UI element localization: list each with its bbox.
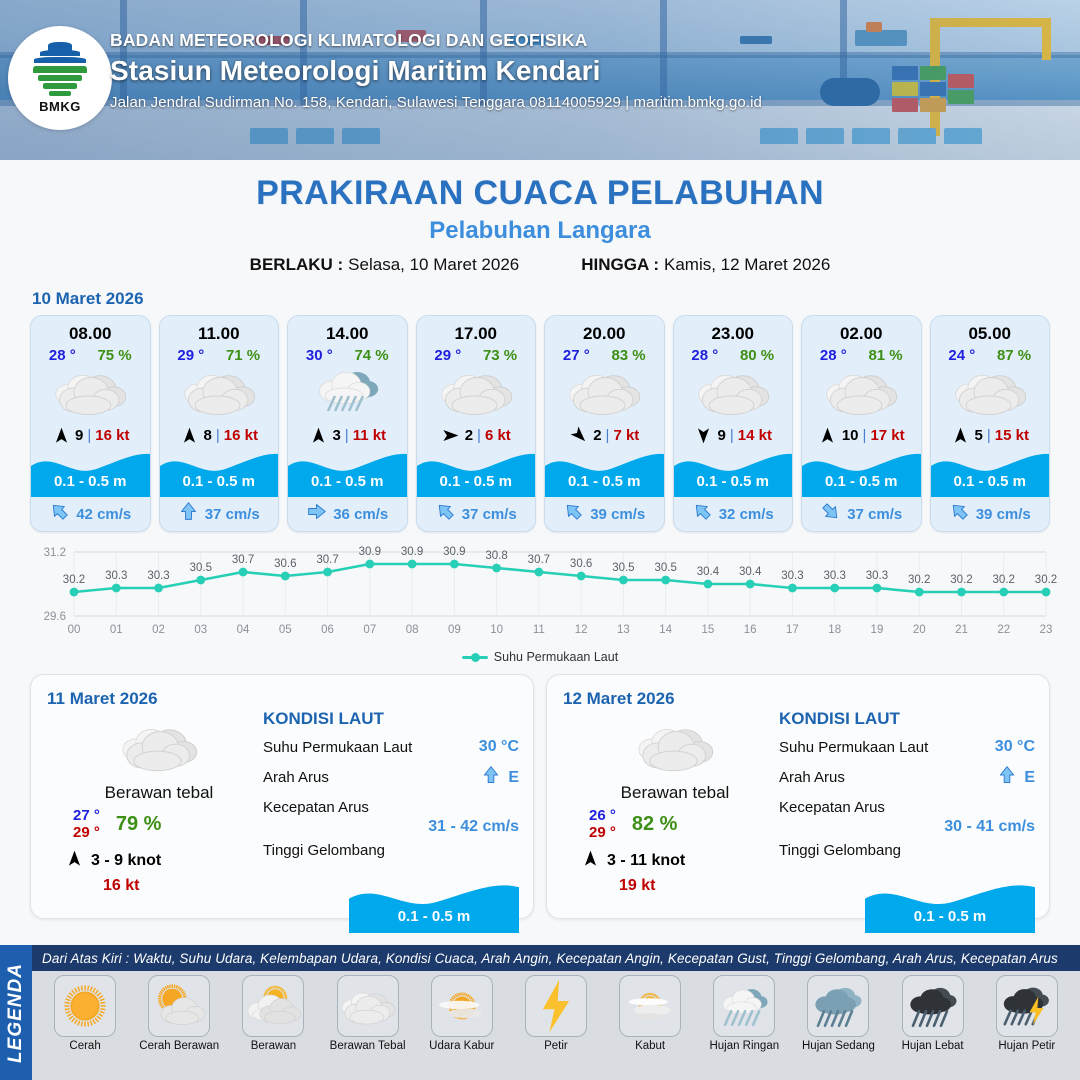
svg-text:30.3: 30.3 (105, 570, 127, 582)
day-humidity: 82 % (632, 813, 678, 836)
svg-text:03: 03 (194, 624, 207, 636)
card-separator: | (477, 427, 481, 444)
current-direction-value: E (1024, 769, 1035, 787)
day-wind-speed: 3 - 9 knot (91, 852, 161, 870)
day-sea-conditions: KONDISI LAUT Suhu Permukaan Laut 30 °C A… (779, 709, 1035, 859)
wind-direction-arrow-icon (951, 425, 971, 445)
hourly-card[interactable]: 23.00 28 ° 80 % 9 | 14 kt 0.1 - 0.5 m (673, 315, 794, 532)
validity-row: BERLAKU :Selasa, 10 Maret 2026 HINGGA :K… (0, 255, 1080, 275)
sst-label: Suhu Permukaan Laut (263, 739, 412, 756)
card-current-speed: 39 cm/s (976, 506, 1031, 523)
wave-height-value: 0.1 - 0.5 m (349, 908, 519, 925)
bmkg-logo: BMKG (8, 26, 112, 130)
card-temp-hum: 29 ° 73 % (417, 344, 536, 364)
day-temp-hum: 26 ° 29 ° 82 % (575, 807, 775, 841)
svg-text:21: 21 (955, 624, 968, 636)
day-left-column: Berawan tebal 26 ° 29 ° 82 % 3 - 11 knot… (575, 717, 775, 895)
card-temp-hum: 28 ° 80 % (674, 344, 793, 364)
card-weather-icon (674, 364, 793, 420)
legend-item: Kabut (607, 975, 693, 1052)
sea-section-title: KONDISI LAUT (263, 709, 519, 729)
cerah-icon (57, 980, 113, 1032)
card-humidity: 73 % (483, 347, 517, 364)
current-direction-row: Arah Arus E (779, 765, 1035, 790)
day-condition: Berawan tebal (575, 783, 775, 803)
card-wave-height: 0.1 - 0.5 m (545, 473, 664, 490)
hourly-card[interactable]: 20.00 27 ° 83 % 2 | 7 kt 0.1 - 0.5 m (544, 315, 665, 532)
legend-note: Dari Atas Kiri : Waktu, Suhu Udara, Kele… (32, 945, 1080, 971)
svg-text:30.3: 30.3 (147, 570, 169, 582)
legend-item-label: Udara Kabur (419, 1040, 505, 1052)
svg-text:23: 23 (1040, 624, 1053, 636)
legend-icon-tile (713, 975, 775, 1037)
svg-text:30.6: 30.6 (570, 558, 592, 570)
card-humidity: 75 % (97, 347, 131, 364)
current-speed-label: Kecepatan Arus (779, 799, 1035, 816)
current-direction-arrow-icon (178, 501, 199, 527)
svg-text:30.4: 30.4 (739, 566, 762, 578)
current-speed-label: Kecepatan Arus (263, 799, 519, 816)
card-humidity: 74 % (354, 347, 388, 364)
card-wind-row: 8 | 16 kt (160, 420, 279, 450)
card-separator: | (345, 427, 349, 444)
legend-bar: LEGENDA Dari Atas Kiri : Waktu, Suhu Uda… (0, 945, 1080, 1080)
svg-text:30.9: 30.9 (401, 546, 423, 558)
card-time: 02.00 (802, 316, 921, 344)
legend-main: Dari Atas Kiri : Waktu, Suhu Udara, Kele… (32, 945, 1080, 1080)
legend-icon-tile (242, 975, 304, 1037)
card-separator: | (216, 427, 220, 444)
sea-section-title: KONDISI LAUT (779, 709, 1035, 729)
card-wave-band: 0.1 - 0.5 m (31, 450, 150, 497)
valid-until-value: Kamis, 12 Maret 2026 (664, 255, 830, 274)
card-current-speed: 37 cm/s (847, 506, 902, 523)
legend-item-label: Kabut (607, 1040, 693, 1052)
legend-icon-tile (902, 975, 964, 1037)
day-wind-row: 3 - 11 knot (575, 849, 775, 873)
card-weather-icon (160, 364, 279, 420)
svg-text:30.3: 30.3 (781, 570, 803, 582)
svg-text:07: 07 (363, 624, 376, 636)
card-temperature: 27 ° (563, 347, 590, 364)
svg-text:30.7: 30.7 (232, 554, 254, 566)
svg-text:06: 06 (321, 624, 334, 636)
wind-direction-arrow-icon (818, 425, 838, 445)
wind-direction-arrow-icon (694, 425, 714, 445)
card-humidity: 81 % (868, 347, 902, 364)
card-gust-speed: 11 kt (353, 427, 386, 444)
legend-icon-tile (431, 975, 493, 1037)
legend-icon-tile (54, 975, 116, 1037)
svg-text:11: 11 (533, 624, 545, 636)
svg-text:30.2: 30.2 (950, 574, 972, 586)
legend-item: Cerah Berawan (136, 975, 222, 1052)
svg-text:05: 05 (279, 624, 292, 636)
sst-value: 30 °C (995, 738, 1035, 756)
card-current-speed: 36 cm/s (333, 506, 388, 523)
card-gust-speed: 15 kt (995, 427, 1029, 444)
logo-sky-shape (30, 42, 90, 64)
wind-direction-arrow-icon (308, 425, 328, 445)
sst-chart: 31.229.600010203040506070809101112131415… (22, 538, 1058, 648)
legend-item-label: Hujan Lebat (890, 1040, 976, 1052)
card-current-speed: 39 cm/s (590, 506, 645, 523)
card-temp-hum: 28 ° 81 % (802, 344, 921, 364)
day-wind-row: 3 - 9 knot (59, 849, 259, 873)
card-wind-speed: 5 (975, 427, 983, 444)
day-weather-icon (59, 717, 259, 777)
chart-legend-label: Suhu Permukaan Laut (494, 650, 618, 664)
wave-height-value: 0.1 - 0.5 m (865, 908, 1035, 925)
berawan-tebal-icon (340, 980, 396, 1032)
chart-legend-marker (462, 656, 488, 659)
svg-text:30.7: 30.7 (528, 554, 550, 566)
current-direction-label: Arah Arus (779, 769, 845, 786)
wind-direction-arrow-icon (51, 425, 71, 445)
page-title: PRAKIRAAN CUACA PELABUHAN (0, 174, 1080, 213)
card-wave-band: 0.1 - 0.5 m (931, 450, 1050, 497)
hourly-card[interactable]: 11.00 29 ° 71 % 8 | 16 kt 0.1 - 0.5 m (159, 315, 280, 532)
day-sea-conditions: KONDISI LAUT Suhu Permukaan Laut 30 °C A… (263, 709, 519, 859)
svg-text:30.2: 30.2 (1035, 574, 1057, 586)
current-speed-value: 31 - 42 cm/s (263, 818, 519, 836)
legend-item: Hujan Petir (984, 975, 1070, 1052)
svg-text:30.3: 30.3 (824, 570, 846, 582)
legend-item: Berawan (230, 975, 316, 1052)
sst-row: Suhu Permukaan Laut 30 °C (263, 738, 519, 756)
legend-icon-tile (996, 975, 1058, 1037)
legend-icon-tile (337, 975, 399, 1037)
hourly-card[interactable]: 17.00 29 ° 73 % 2 | 6 kt 0.1 - 0.5 m (416, 315, 537, 532)
card-current-speed: 42 cm/s (76, 506, 131, 523)
hourly-card[interactable]: 08.00 28 ° 75 % 9 | 16 kt 0.1 - 0.5 m (30, 315, 151, 532)
hourly-card[interactable]: 05.00 24 ° 87 % 5 | 15 kt 0.1 - 0.5 m (930, 315, 1051, 532)
card-time: 23.00 (674, 316, 793, 344)
card-weather-icon (802, 364, 921, 420)
current-speed-value: 30 - 41 cm/s (779, 818, 1035, 836)
legend-item: Hujan Sedang (795, 975, 881, 1052)
hujan-petir-icon (999, 980, 1055, 1032)
current-speed-row: Kecepatan Arus 31 - 42 cm/s (263, 799, 519, 836)
daily-forecast-panel[interactable]: 12 Maret 2026 Berawan tebal 26 ° 29 ° 82… (546, 674, 1050, 919)
card-wave-band: 0.1 - 0.5 m (545, 450, 664, 497)
svg-text:30.4: 30.4 (697, 566, 720, 578)
valid-from-label: BERLAKU : (250, 255, 344, 274)
logo-green-shape (31, 66, 89, 96)
current-direction-arrow-icon (820, 501, 841, 527)
card-humidity: 83 % (611, 347, 645, 364)
day-temp-min: 27 ° (73, 807, 100, 824)
card-wave-height: 0.1 - 0.5 m (288, 473, 407, 490)
wind-direction-arrow-icon (569, 425, 589, 445)
card-wave-band: 0.1 - 0.5 m (802, 450, 921, 497)
udara-kabur-icon (434, 980, 490, 1032)
wave-height-label: Tinggi Gelombang (779, 842, 1035, 859)
card-separator: | (730, 427, 734, 444)
card-wind-speed: 10 (842, 427, 859, 444)
card-gust-speed: 7 kt (613, 427, 639, 444)
day-date: 11 Maret 2026 (47, 689, 517, 709)
svg-text:30.2: 30.2 (908, 574, 930, 586)
current-direction-arrow-icon (692, 501, 713, 527)
current-direction-value-wrap: E (997, 765, 1035, 790)
current-direction-arrow-icon (435, 501, 456, 527)
card-separator: | (987, 427, 991, 444)
card-wind-speed: 2 (465, 427, 473, 444)
hujan-lebat-icon (905, 980, 961, 1032)
svg-text:17: 17 (786, 624, 799, 636)
card-wind-row: 9 | 14 kt (674, 420, 793, 450)
wave-height-label: Tinggi Gelombang (263, 842, 519, 859)
svg-text:30.5: 30.5 (612, 562, 634, 574)
current-direction-label: Arah Arus (263, 769, 329, 786)
current-direction-arrow-icon (306, 501, 327, 527)
agency-name: BADAN METEOROLOGI KLIMATOLOGI DAN GEOFIS… (110, 30, 970, 51)
card-temp-hum: 28 ° 75 % (31, 344, 150, 364)
card-wave-band: 0.1 - 0.5 m (288, 450, 407, 497)
card-wave-band: 0.1 - 0.5 m (674, 450, 793, 497)
card-wind-speed: 9 (718, 427, 726, 444)
card-separator: | (863, 427, 867, 444)
legend-item-label: Cerah (42, 1040, 128, 1052)
day-temp-hum: 27 ° 29 ° 79 % (59, 807, 259, 841)
card-humidity: 87 % (997, 347, 1031, 364)
card-temperature: 28 ° (691, 347, 718, 364)
day-gust-speed: 19 kt (619, 877, 775, 895)
svg-text:18: 18 (828, 624, 841, 636)
svg-text:04: 04 (237, 624, 250, 636)
card-gust-speed: 14 kt (738, 427, 772, 444)
station-name: Stasiun Meteorologi Maritim Kendari (110, 55, 970, 87)
card-time: 08.00 (31, 316, 150, 344)
svg-text:14: 14 (659, 624, 672, 636)
day-left-column: Berawan tebal 27 ° 29 ° 79 % 3 - 9 knot … (59, 717, 259, 895)
sst-chart-svg: 31.229.600010203040506070809101112131415… (22, 538, 1058, 648)
card-separator: | (606, 427, 610, 444)
card-wave-height: 0.1 - 0.5 m (931, 473, 1050, 490)
card-wind-row: 2 | 7 kt (545, 420, 664, 450)
legend-item-list: Cerah Cerah Berawan Berawan Bera (32, 971, 1080, 1052)
header-text-block: BADAN METEOROLOGI KLIMATOLOGI DAN GEOFIS… (110, 30, 970, 111)
card-temp-hum: 27 ° 83 % (545, 344, 664, 364)
card-weather-icon (931, 364, 1050, 420)
current-direction-arrow-icon (997, 765, 1017, 790)
day-weather-icon (575, 717, 775, 777)
valid-until: HINGGA :Kamis, 12 Maret 2026 (581, 255, 830, 275)
card-time: 17.00 (417, 316, 536, 344)
port-name: Pelabuhan Langara (0, 217, 1080, 245)
card-temp-hum: 29 ° 71 % (160, 344, 279, 364)
card-wind-speed: 2 (593, 427, 601, 444)
svg-text:13: 13 (617, 624, 630, 636)
legend-item: Hujan Lebat (890, 975, 976, 1052)
current-speed-row: Kecepatan Arus 30 - 41 cm/s (779, 799, 1035, 836)
card-weather-icon (288, 364, 407, 420)
wave-height-row: Tinggi Gelombang 0.1 - 0.5 m (263, 842, 519, 859)
wave-height-badge: 0.1 - 0.5 m (865, 881, 1035, 933)
card-wave-height: 0.1 - 0.5 m (417, 473, 536, 490)
day-temp-max: 29 ° (73, 824, 100, 841)
legend-sidebar: LEGENDA (0, 945, 32, 1080)
title-block: PRAKIRAAN CUACA PELABUHAN Pelabuhan Lang… (0, 174, 1080, 275)
card-current-row: 37 cm/s (417, 497, 536, 531)
petir-icon (528, 980, 584, 1032)
card-current-speed: 37 cm/s (205, 506, 260, 523)
current-direction-arrow-icon (563, 501, 584, 527)
card-gust-speed: 16 kt (95, 427, 129, 444)
svg-text:00: 00 (68, 624, 81, 636)
card-wind-speed: 9 (75, 427, 83, 444)
day-wind-speed: 3 - 11 knot (607, 852, 685, 870)
card-wind-row: 10 | 17 kt (802, 420, 921, 450)
legend-item: Hujan Ringan (701, 975, 787, 1052)
legend-item: Petir (513, 975, 599, 1052)
card-wave-height: 0.1 - 0.5 m (674, 473, 793, 490)
card-wind-speed: 8 (204, 427, 212, 444)
svg-text:12: 12 (575, 624, 588, 636)
card-current-row: 36 cm/s (288, 497, 407, 531)
legend-icon-tile (525, 975, 587, 1037)
day-date: 12 Maret 2026 (563, 689, 1033, 709)
card-gust-speed: 17 kt (870, 427, 904, 444)
valid-until-label: HINGGA : (581, 255, 659, 274)
cerah-berawan-icon (151, 980, 207, 1032)
daily-panel-list: 11 Maret 2026 Berawan tebal 27 ° 29 ° 79… (0, 664, 1080, 919)
card-current-speed: 32 cm/s (719, 506, 774, 523)
card-current-row: 39 cm/s (545, 497, 664, 531)
svg-text:30.7: 30.7 (316, 554, 338, 566)
card-current-speed: 37 cm/s (462, 506, 517, 523)
card-temperature: 30 ° (306, 347, 333, 364)
card-time: 14.00 (288, 316, 407, 344)
wind-direction-arrow-icon (180, 425, 200, 445)
current-direction-value-wrap: E (481, 765, 519, 790)
card-weather-icon (545, 364, 664, 420)
svg-text:22: 22 (997, 624, 1010, 636)
card-temperature: 24 ° (948, 347, 975, 364)
card-temp-hum: 30 ° 74 % (288, 344, 407, 364)
svg-text:30.6: 30.6 (274, 558, 296, 570)
svg-text:30.2: 30.2 (63, 574, 85, 586)
legend-item-label: Petir (513, 1040, 599, 1052)
legend-item-label: Hujan Ringan (701, 1040, 787, 1052)
hourly-date: 10 Maret 2026 (32, 289, 1080, 309)
station-address: Jalan Jendral Sudirman No. 158, Kendari,… (110, 94, 970, 111)
card-humidity: 71 % (226, 347, 260, 364)
current-direction-arrow-icon (481, 765, 501, 790)
card-time: 20.00 (545, 316, 664, 344)
card-wave-height: 0.1 - 0.5 m (802, 473, 921, 490)
card-wave-band: 0.1 - 0.5 m (417, 450, 536, 497)
chart-legend: Suhu Permukaan Laut (0, 650, 1080, 664)
legend-item-label: Hujan Petir (984, 1040, 1070, 1052)
svg-text:16: 16 (744, 624, 757, 636)
svg-text:31.2: 31.2 (44, 547, 66, 559)
legend-item: Berawan Tebal (325, 975, 411, 1052)
wind-direction-arrow-icon (65, 849, 84, 873)
wave-height-badge: 0.1 - 0.5 m (349, 881, 519, 933)
card-time: 05.00 (931, 316, 1050, 344)
legend-item: Cerah (42, 975, 128, 1052)
legend-item: Udara Kabur (419, 975, 505, 1052)
hujan-ringan-icon (716, 980, 772, 1032)
card-current-row: 39 cm/s (931, 497, 1050, 531)
wind-direction-arrow-icon (581, 849, 600, 873)
sst-value: 30 °C (479, 738, 519, 756)
card-wind-speed: 3 (332, 427, 340, 444)
current-direction-row: Arah Arus E (263, 765, 519, 790)
current-direction-value: E (508, 769, 519, 787)
legend-item-label: Berawan Tebal (325, 1040, 411, 1052)
svg-text:08: 08 (406, 624, 419, 636)
legend-icon-tile (619, 975, 681, 1037)
svg-text:30.9: 30.9 (443, 546, 465, 558)
card-current-row: 42 cm/s (31, 497, 150, 531)
svg-text:30.5: 30.5 (190, 562, 212, 574)
card-current-row: 37 cm/s (160, 497, 279, 531)
card-separator: | (87, 427, 91, 444)
card-weather-icon (31, 364, 150, 420)
svg-text:30.9: 30.9 (359, 546, 381, 558)
card-wind-row: 2 | 6 kt (417, 420, 536, 450)
page-header: BMKG BADAN METEOROLOGI KLIMATOLOGI DAN G… (0, 0, 1080, 160)
card-current-row: 37 cm/s (802, 497, 921, 531)
daily-forecast-panel[interactable]: 11 Maret 2026 Berawan tebal 27 ° 29 ° 79… (30, 674, 534, 919)
sst-label: Suhu Permukaan Laut (779, 739, 928, 756)
svg-text:30.3: 30.3 (866, 570, 888, 582)
card-temp-hum: 24 ° 87 % (931, 344, 1050, 364)
card-temperature: 29 ° (177, 347, 204, 364)
card-wind-row: 5 | 15 kt (931, 420, 1050, 450)
day-temperature-range: 26 ° 29 ° (589, 807, 616, 841)
card-temperature: 29 ° (434, 347, 461, 364)
wind-direction-arrow-icon (441, 425, 461, 445)
valid-from: BERLAKU :Selasa, 10 Maret 2026 (250, 255, 520, 275)
svg-text:10: 10 (490, 624, 503, 636)
legend-icon-tile (807, 975, 869, 1037)
card-time: 11.00 (160, 316, 279, 344)
card-gust-speed: 16 kt (224, 427, 258, 444)
day-humidity: 79 % (116, 813, 162, 836)
day-temperature-range: 27 ° 29 ° (73, 807, 100, 841)
card-wave-height: 0.1 - 0.5 m (31, 473, 150, 490)
svg-text:30.8: 30.8 (485, 550, 507, 562)
hourly-card[interactable]: 14.00 30 ° 74 % 3 | 11 kt 0.1 - 0.5 m 36… (287, 315, 408, 532)
card-temperature: 28 ° (49, 347, 76, 364)
card-temperature: 28 ° (820, 347, 847, 364)
sst-row: Suhu Permukaan Laut 30 °C (779, 738, 1035, 756)
svg-text:09: 09 (448, 624, 461, 636)
card-gust-speed: 6 kt (485, 427, 511, 444)
legend-item-label: Cerah Berawan (136, 1040, 222, 1052)
card-wind-row: 9 | 16 kt (31, 420, 150, 450)
legend-icon-tile (148, 975, 210, 1037)
day-temp-max: 29 ° (589, 824, 616, 841)
card-current-row: 32 cm/s (674, 497, 793, 531)
svg-text:02: 02 (152, 624, 165, 636)
svg-text:30.2: 30.2 (993, 574, 1015, 586)
berawan-icon (245, 980, 301, 1032)
day-condition: Berawan tebal (59, 783, 259, 803)
wave-height-row: Tinggi Gelombang 0.1 - 0.5 m (779, 842, 1035, 859)
kabut-icon (622, 980, 678, 1032)
day-gust-speed: 16 kt (103, 877, 259, 895)
current-direction-arrow-icon (949, 501, 970, 527)
svg-text:19: 19 (871, 624, 884, 636)
current-direction-arrow-icon (49, 501, 70, 527)
hourly-card[interactable]: 02.00 28 ° 81 % 10 | 17 kt 0.1 - 0.5 m (801, 315, 922, 532)
hourly-card-list: 08.00 28 ° 75 % 9 | 16 kt 0.1 - 0.5 m (0, 315, 1080, 532)
